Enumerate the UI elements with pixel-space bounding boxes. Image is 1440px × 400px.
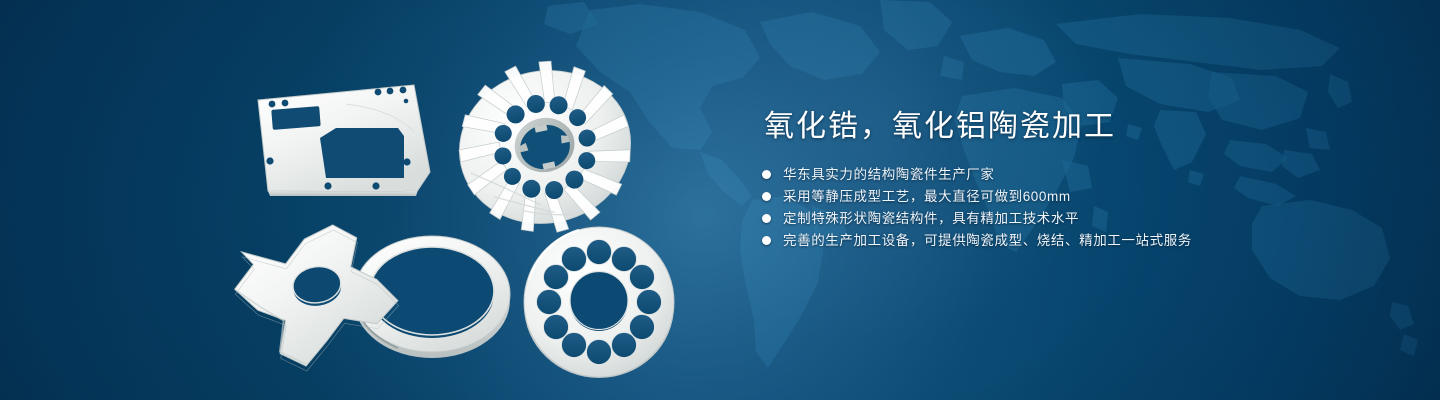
- bullet-dot-icon: [762, 236, 771, 245]
- ceramic-cross-blade: [228, 217, 406, 379]
- product-photo-group: [0, 0, 720, 400]
- bullet-dot-icon: [762, 214, 771, 223]
- list-item-label: 完善的生产加工设备，可提供陶瓷成型、烧结、精加工一站式服务: [783, 234, 1192, 248]
- feature-list: 华东具实力的结构陶瓷件生产厂家 采用等静压成型工艺，最大直径可做到600mm 定…: [762, 168, 1362, 248]
- list-item: 完善的生产加工设备，可提供陶瓷成型、烧结、精加工一站式服务: [762, 234, 1362, 248]
- list-item-label: 定制特殊形状陶瓷结构件，具有精加工技术水平: [783, 212, 1079, 226]
- bullet-dot-icon: [762, 170, 771, 179]
- list-item: 华东具实力的结构陶瓷件生产厂家: [762, 168, 1362, 182]
- list-item-label: 华东具实力的结构陶瓷件生产厂家: [783, 168, 995, 182]
- list-item: 采用等静压成型工艺，最大直径可做到600mm: [762, 190, 1362, 204]
- ceramic-impeller: [442, 45, 648, 251]
- page-title: 氧化锆，氧化铝陶瓷加工: [764, 108, 1362, 146]
- banner-copy: 氧化锆，氧化铝陶瓷加工 华东具实力的结构陶瓷件生产厂家 采用等静压成型工艺，最大…: [762, 108, 1362, 248]
- list-item: 定制特殊形状陶瓷结构件，具有精加工技术水平: [762, 212, 1362, 226]
- bullet-dot-icon: [762, 192, 771, 201]
- ceramic-flange-disc: [524, 227, 674, 378]
- list-item-label: 采用等静压成型工艺，最大直径可做到600mm: [783, 190, 1071, 204]
- ceramic-plate: [258, 85, 430, 196]
- hero-banner: 氧化锆，氧化铝陶瓷加工 华东具实力的结构陶瓷件生产厂家 采用等静压成型工艺，最大…: [0, 0, 1440, 400]
